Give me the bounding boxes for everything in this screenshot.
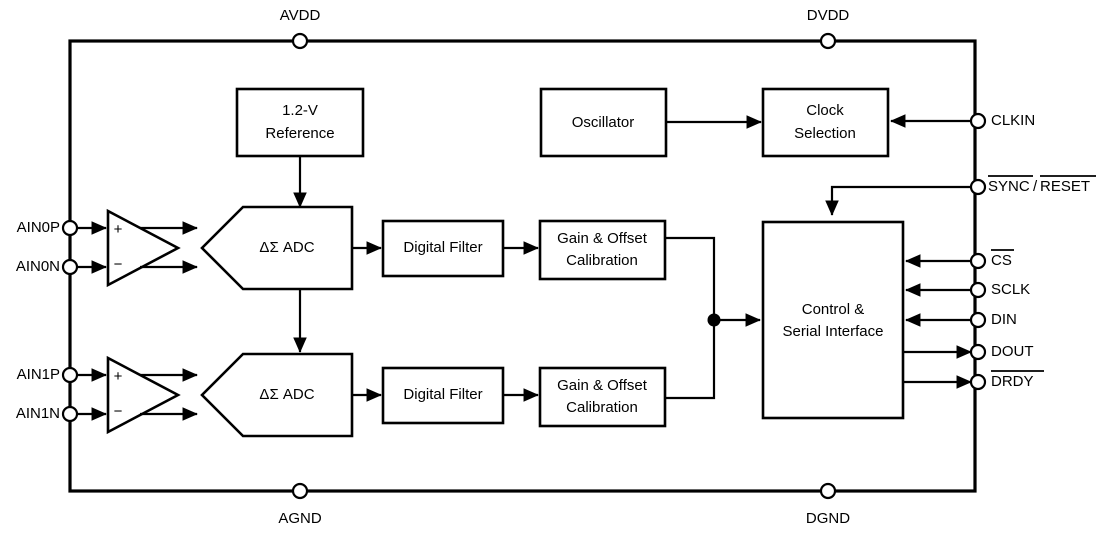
sync-reset-wire bbox=[832, 187, 971, 215]
pga0-plus-sign: + bbox=[114, 221, 123, 238]
ain0p-pin-circle[interactable] bbox=[63, 221, 77, 235]
digital-pin-clkin[interactable]: CLKIN bbox=[891, 112, 1035, 129]
ain1p-pin-circle[interactable] bbox=[63, 368, 77, 382]
block-diagram-root: AVDD DVDD AGND DGND AIN0P AIN0N AIN1P AI… bbox=[0, 0, 1100, 534]
amplifier-pga0[interactable]: + − bbox=[108, 211, 197, 285]
sync-reset-pin-circle[interactable] bbox=[971, 180, 985, 194]
block-gain-offset-calibration-0[interactable]: Gain & Offset Calibration bbox=[540, 221, 665, 279]
analog-input-ain1n[interactable]: AIN1N bbox=[16, 405, 106, 422]
digital-pin-sync-reset[interactable]: SYNC / RESET bbox=[832, 176, 1096, 215]
digital-pin-din[interactable]: DIN bbox=[906, 311, 1017, 328]
block-control-serial-interface[interactable]: Control & Serial Interface bbox=[763, 222, 903, 418]
ain0p-label: AIN0P bbox=[17, 219, 60, 236]
dgnd-pin-circle[interactable] bbox=[821, 484, 835, 498]
ain0n-label: AIN0N bbox=[16, 258, 60, 275]
clock-selection-box[interactable] bbox=[763, 89, 888, 156]
block-clock-selection[interactable]: Clock Selection bbox=[763, 89, 888, 156]
dgnd-label: DGND bbox=[806, 510, 850, 527]
filter1-label: Digital Filter bbox=[403, 386, 482, 403]
analog-input-ain1p[interactable]: AIN1P bbox=[17, 366, 106, 383]
block-reference[interactable]: 1.2-V Reference bbox=[237, 89, 363, 207]
clock-selection-label-line1: Clock bbox=[806, 102, 844, 119]
agnd-pin-circle[interactable] bbox=[293, 484, 307, 498]
amplifier-pga1[interactable]: + − bbox=[108, 358, 197, 432]
adc1-label: ΔΣ ADC bbox=[259, 386, 314, 403]
filter0-label: Digital Filter bbox=[403, 239, 482, 256]
sync-reset-label-sync: SYNC bbox=[988, 178, 1030, 195]
analog-input-ain0n[interactable]: AIN0N bbox=[16, 258, 106, 275]
clkin-pin-circle[interactable] bbox=[971, 114, 985, 128]
sclk-label: SCLK bbox=[991, 281, 1030, 298]
ain1p-label: AIN1P bbox=[17, 366, 60, 383]
dout-label: DOUT bbox=[991, 343, 1034, 360]
sync-reset-label-reset: RESET bbox=[1040, 178, 1090, 195]
block-digital-filter-1[interactable]: Digital Filter bbox=[383, 368, 538, 423]
cs-pin-circle[interactable] bbox=[971, 254, 985, 268]
sclk-pin-circle[interactable] bbox=[971, 283, 985, 297]
block-diagram-canvas: AVDD DVDD AGND DGND AIN0P AIN0N AIN1P AI… bbox=[0, 0, 1100, 534]
pga1-minus-sign: − bbox=[114, 403, 123, 420]
ain0n-pin-circle[interactable] bbox=[63, 260, 77, 274]
block-digital-filter-0[interactable]: Digital Filter bbox=[383, 221, 538, 276]
control-label-line2: Serial Interface bbox=[783, 323, 884, 340]
block-adc0[interactable]: ΔΣ ADC bbox=[202, 207, 381, 352]
calib0-label-line1: Gain & Offset bbox=[557, 230, 648, 247]
block-adc1[interactable]: ΔΣ ADC bbox=[202, 354, 381, 436]
ain1n-label: AIN1N bbox=[16, 405, 60, 422]
clkin-label: CLKIN bbox=[991, 112, 1035, 129]
reference-box[interactable] bbox=[237, 89, 363, 156]
pga1-plus-sign: + bbox=[114, 368, 123, 385]
adc0-label: ΔΣ ADC bbox=[259, 239, 314, 256]
dout-pin-circle[interactable] bbox=[971, 345, 985, 359]
digital-pin-sclk[interactable]: SCLK bbox=[906, 281, 1030, 298]
din-label: DIN bbox=[991, 311, 1017, 328]
control-label-line1: Control & bbox=[802, 301, 865, 318]
avdd-pin-circle[interactable] bbox=[293, 34, 307, 48]
oscillator-label: Oscillator bbox=[572, 114, 635, 131]
calibration-merge-bus bbox=[665, 238, 760, 398]
drdy-pin-circle[interactable] bbox=[971, 375, 985, 389]
digital-pin-dout[interactable]: DOUT bbox=[903, 343, 1034, 360]
calib0-label-line2: Calibration bbox=[566, 252, 638, 269]
ain1n-pin-circle[interactable] bbox=[63, 407, 77, 421]
clock-selection-label-line2: Selection bbox=[794, 125, 856, 142]
digital-pin-cs[interactable]: CS bbox=[906, 250, 1014, 269]
calibration-merge-path bbox=[665, 238, 714, 398]
drdy-label: DRDY bbox=[991, 373, 1034, 390]
dvdd-label: DVDD bbox=[807, 7, 850, 24]
avdd-label: AVDD bbox=[280, 7, 321, 24]
block-gain-offset-calibration-1[interactable]: Gain & Offset Calibration bbox=[540, 368, 665, 426]
reference-label-line2: Reference bbox=[265, 125, 334, 142]
din-pin-circle[interactable] bbox=[971, 313, 985, 327]
sync-reset-label-slash: / bbox=[1033, 178, 1038, 195]
block-oscillator[interactable]: Oscillator bbox=[541, 89, 761, 156]
analog-input-ain0p[interactable]: AIN0P bbox=[17, 219, 106, 236]
agnd-label: AGND bbox=[278, 510, 322, 527]
reference-label-line1: 1.2-V bbox=[282, 102, 318, 119]
calib1-label-line2: Calibration bbox=[566, 399, 638, 416]
pga0-minus-sign: − bbox=[114, 256, 123, 273]
control-box[interactable] bbox=[763, 222, 903, 418]
calib1-label-line1: Gain & Offset bbox=[557, 377, 648, 394]
cs-label: CS bbox=[991, 252, 1012, 269]
dvdd-pin-circle[interactable] bbox=[821, 34, 835, 48]
